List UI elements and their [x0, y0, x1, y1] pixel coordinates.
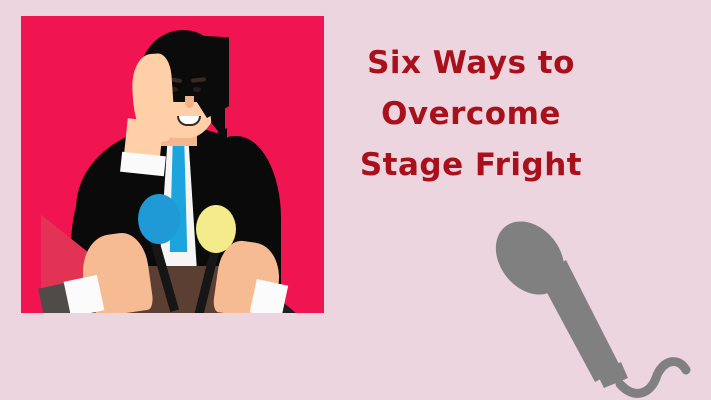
speaker-nose: [185, 96, 194, 108]
illustration-nervous-speaker: [21, 16, 324, 313]
slide-canvas: Six Ways to Overcome Stage Fright: [0, 0, 711, 400]
title-line-1: Six Ways to: [340, 38, 602, 89]
mic-cord: [620, 362, 686, 394]
reporter-cuff-left: [64, 275, 105, 313]
speaker-eye-right: [193, 87, 201, 92]
page-title: Six Ways to Overcome Stage Fright: [340, 38, 602, 191]
microphone-icon: [478, 198, 711, 400]
handheld-mic-blue-head: [138, 194, 180, 244]
title-line-3: Stage Fright: [340, 140, 602, 191]
mic-handle: [538, 260, 621, 382]
reporter-cuff-right: [250, 279, 288, 313]
title-line-2: Overcome: [340, 89, 602, 140]
